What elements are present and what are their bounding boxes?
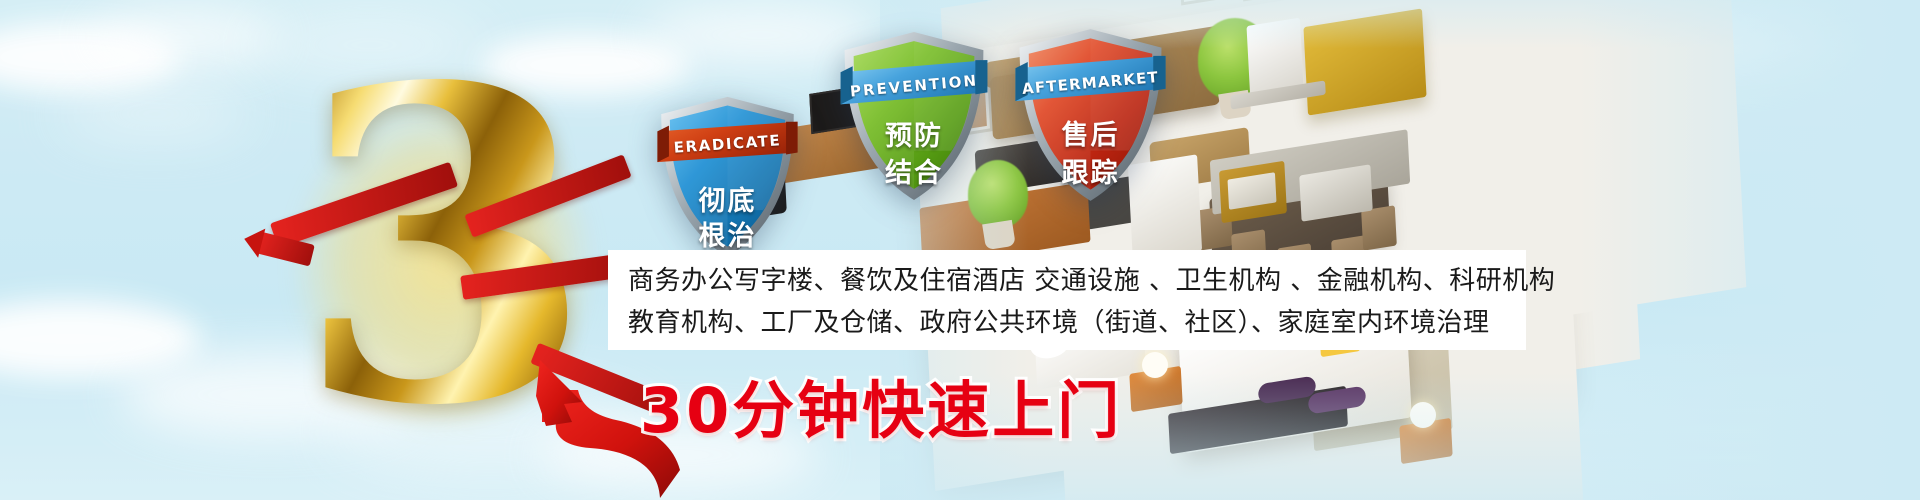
table-lamp xyxy=(1410,402,1436,428)
cloud-icon xyxy=(1560,0,1860,70)
service-scope-line-1: 商务办公写字楼、餐饮及住宿酒店 交通设施 、卫生机构 、金融机构、科研机构 xyxy=(628,260,1526,302)
cloud-icon xyxy=(0,22,180,92)
service-scope-line-2: 教育机构、工厂及仓储、政府公共环境（街道、社区）、家庭室内环境治理 xyxy=(628,302,1526,344)
plant-pot xyxy=(982,220,1016,250)
bed-pillow xyxy=(1258,375,1316,404)
shield-badge-aftermarket: AFTERMARKET 售后 跟踪 xyxy=(1013,25,1168,205)
cloud-icon xyxy=(60,92,250,136)
oven-cabinet xyxy=(1219,161,1287,224)
plant-icon xyxy=(1198,18,1272,100)
kitchen-counter xyxy=(1210,129,1410,215)
wall-frame xyxy=(1241,0,1286,2)
cloud-icon xyxy=(0,300,200,378)
service-scope-panel: 商务办公写字楼、餐饮及住宿酒店 交通设施 、卫生机构 、金融机构、科研机构 教育… xyxy=(608,250,1526,350)
dining-chair xyxy=(1361,205,1397,250)
nightstand xyxy=(1129,366,1182,412)
promo-banner: 3 xyxy=(0,0,1920,500)
plant-pot xyxy=(1218,90,1252,120)
table-lamp xyxy=(1142,352,1168,378)
dining-chair xyxy=(1197,205,1233,250)
dining-chair xyxy=(1315,165,1351,210)
oven-door xyxy=(1228,172,1277,210)
slogan-headline: 30分钟快速上门 xyxy=(640,360,1122,450)
kitchen-wall-cabinet xyxy=(1303,8,1426,115)
shield-badge-prevention: PREVENTION 预防 结合 xyxy=(838,28,990,204)
cloud-icon xyxy=(90,8,280,66)
bed-pillow xyxy=(1308,385,1366,414)
kitchen-sink xyxy=(1299,164,1373,221)
nightstand xyxy=(1399,418,1452,464)
wall-frame xyxy=(1179,0,1224,6)
shield-badge-eradicate: ERADICATE 彻底 根治 xyxy=(655,93,800,261)
range-hood-lip xyxy=(1230,80,1326,109)
headboard xyxy=(1168,386,1348,454)
range-hood xyxy=(1246,18,1303,97)
